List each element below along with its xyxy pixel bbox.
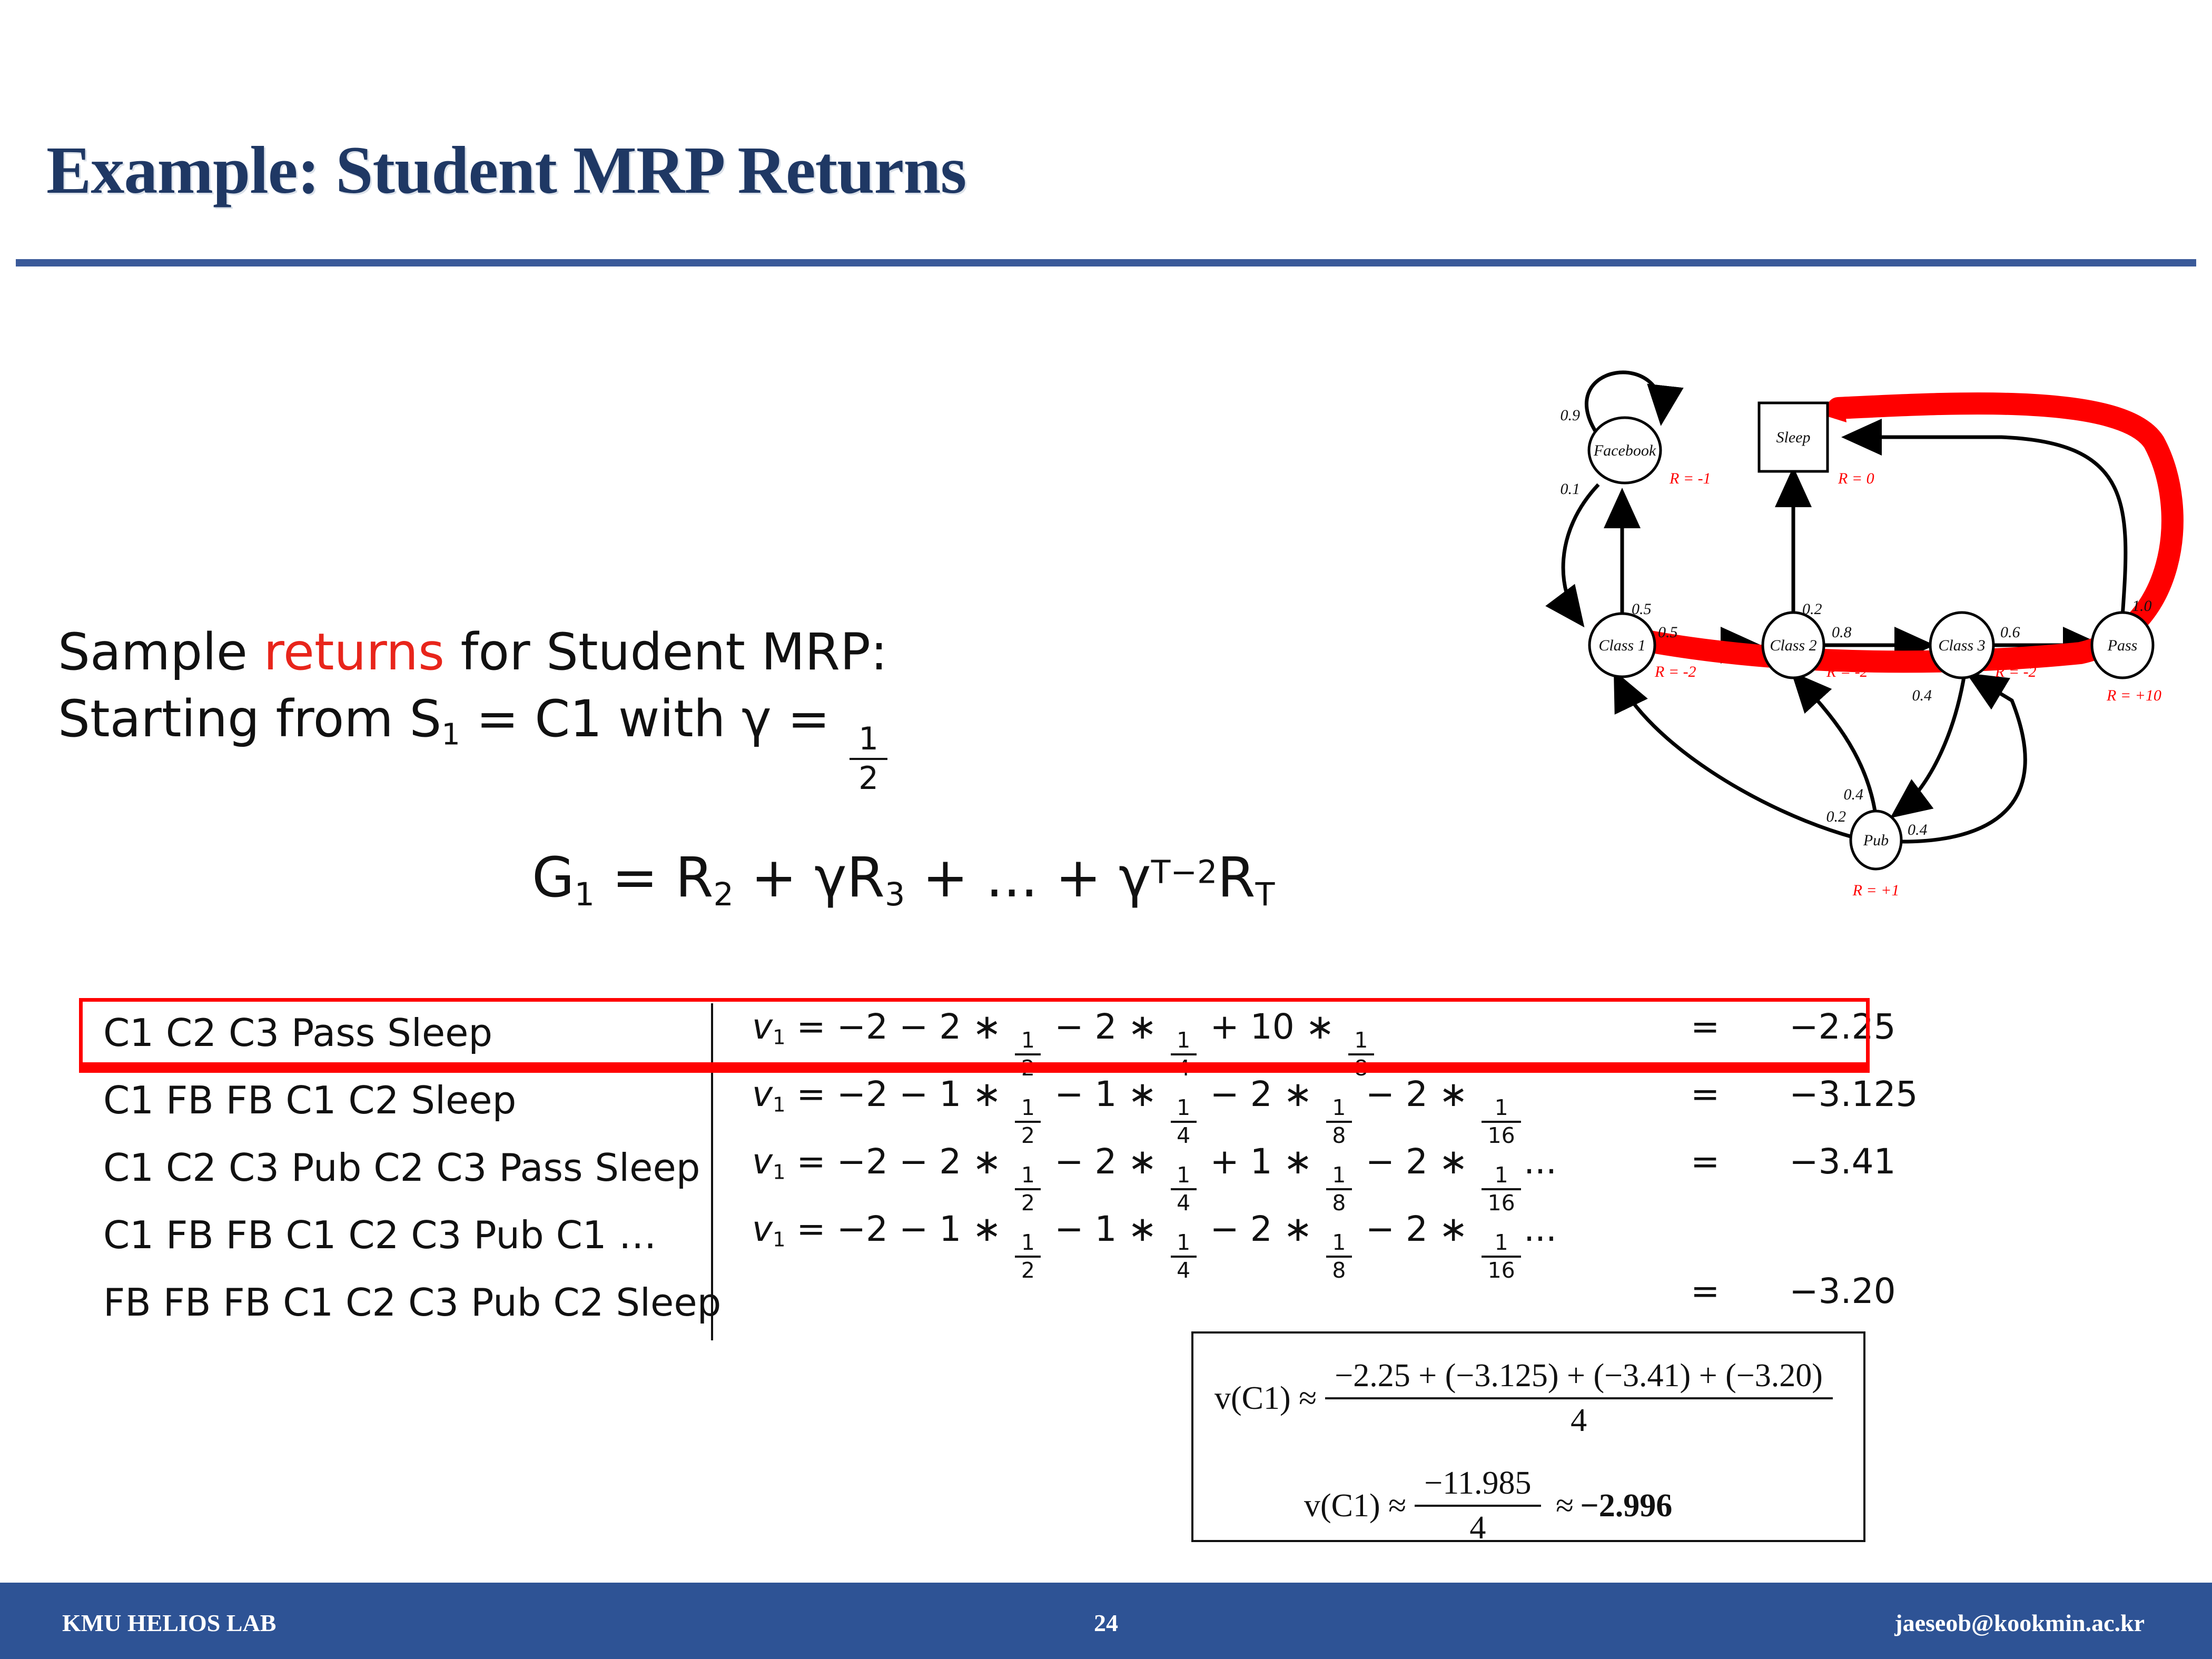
summary-line1-denominator: 4 — [1561, 1403, 1597, 1439]
summary-line1-lhs: v(C1) ≈ — [1214, 1380, 1317, 1417]
title-underline-rule — [16, 259, 2196, 266]
summary-final-value: −2.996 — [1580, 1487, 1672, 1525]
intro-line2-mid: = C1 with γ = — [460, 689, 846, 748]
summary-line2-lhs: v(C1) ≈ — [1304, 1487, 1406, 1525]
formula-r3-sub: 3 — [885, 876, 905, 913]
prob-pub-class2: 0.4 — [1844, 786, 1864, 803]
term-coefficient: − 1 ∗ — [1043, 1209, 1168, 1249]
term-coefficient: − 1 ∗ — [1043, 1074, 1168, 1114]
formula-tail-sub: T — [1256, 876, 1275, 913]
term-coefficient: − 2 ∗ — [1355, 1141, 1479, 1182]
intro-line2-prefix: Starting from S — [58, 689, 441, 748]
term-coefficient: − 2 ∗ — [1355, 1074, 1479, 1114]
table-row: C1 C2 C3 Pub C2 C3 Pass Sleepv1 = −2 − 2… — [84, 1138, 1864, 1206]
ellipsis: ... — [1524, 1209, 1557, 1249]
reward-class2: R = -2 — [1826, 663, 1868, 680]
summary-line2-denominator: 4 — [1460, 1510, 1496, 1546]
equals-sign: = — [785, 1141, 836, 1182]
prob-class1-facebook: 0.5 — [1632, 600, 1652, 618]
term-coefficient: − 2 ∗ — [1043, 1006, 1168, 1047]
node-class3-label: Class 3 — [1938, 637, 1985, 654]
formula-lhs: G — [532, 845, 575, 910]
prob-class1-class2: 0.5 — [1658, 624, 1678, 641]
summary-line2-numerator: −11.985 — [1415, 1465, 1541, 1502]
node-class1-label: Class 1 — [1598, 637, 1645, 654]
return-result: = −3.125 — [1569, 1071, 1864, 1114]
equals-sign: = — [785, 1074, 836, 1114]
v-symbol: v — [752, 1209, 773, 1249]
return-equation: v1 = −2 − 1 ∗ 12 − 1 ∗ 14 − 2 ∗ 18 − 2 ∗… — [713, 1206, 1569, 1281]
fraction-bar — [850, 758, 887, 760]
return-equation: v1 = −2 − 1 ∗ 12 − 1 ∗ 14 − 2 ∗ 18 − 2 ∗… — [713, 1071, 1569, 1147]
table-row: C1 FB FB C1 C2 Sleepv1 = −2 − 1 ∗ 12 − 1… — [84, 1071, 1864, 1138]
column-divider — [711, 1273, 713, 1340]
prob-pass-sleep: 1.0 — [2132, 597, 2152, 615]
returns-keyword: returns — [263, 623, 445, 682]
page-title: Example: Student MRP Returns — [46, 132, 966, 209]
term-coefficient: + 10 ∗ — [1199, 1006, 1346, 1047]
summary-line-1: v(C1) ≈ −2.25 + (−3.125) + (−3.41) + (−3… — [1214, 1358, 1841, 1439]
episode-sequence: C1 C2 C3 Pass Sleep — [84, 1003, 711, 1055]
gamma-denominator: 2 — [850, 763, 887, 795]
fraction-numerator: 1 — [1326, 1164, 1352, 1186]
table-row: C1 FB FB C1 C2 C3 Pub C1 …v1 = −2 − 1 ∗ … — [84, 1206, 1864, 1273]
v-subscript: 1 — [773, 1093, 785, 1117]
reward-sleep: R = 0 — [1838, 470, 1874, 487]
node-class2-label: Class 2 — [1770, 637, 1816, 654]
reward-pub: R = +1 — [1852, 882, 1900, 899]
episode-sequence: C1 C2 C3 Pub C2 C3 Pass Sleep — [84, 1138, 711, 1190]
fraction-bar — [1325, 1397, 1833, 1399]
state-subscript: 1 — [441, 717, 460, 752]
return-equation: v1 = −2 − 2 ∗ 12 − 2 ∗ 14 + 1 ∗ 18 − 2 ∗… — [713, 1138, 1569, 1214]
highlight-path-overlay — [1604, 403, 2172, 661]
result-value: = −3.125 — [1691, 1074, 1918, 1114]
equals-sign: = — [785, 1209, 836, 1249]
node-pass-label: Pass — [2107, 637, 2138, 654]
term-coefficient: − 2 ∗ — [1199, 1209, 1324, 1249]
term-coefficient: − 2 ∗ — [1355, 1209, 1479, 1249]
formula-middle: + ... + γ — [905, 845, 1151, 910]
result-value: = −2.25 — [1691, 1006, 1896, 1047]
episode-sequence: FB FB FB C1 C2 C3 Pub C2 Sleep — [84, 1273, 711, 1325]
result-value: = −3.41 — [1691, 1141, 1896, 1182]
formula-eq: = R — [595, 845, 714, 910]
term-coefficient: −2 − 1 ∗ — [837, 1074, 1013, 1114]
summary-line1-numerator: −2.25 + (−3.125) + (−3.41) + (−3.20) — [1325, 1358, 1833, 1394]
prob-pub-class1: 0.2 — [1826, 808, 1846, 825]
intro-line1-suffix: for Student MRP: — [445, 623, 887, 682]
return-result: = −3.41 — [1569, 1138, 1864, 1182]
prob-class2-sleep: 0.2 — [1802, 600, 1822, 618]
term-coefficient: + 1 ∗ — [1199, 1141, 1324, 1182]
reward-pass: R = +10 — [2106, 687, 2161, 704]
fraction-numerator: 1 — [1488, 1164, 1514, 1186]
edge-facebook-class1 — [1563, 485, 1598, 621]
fraction-numerator: 1 — [1326, 1097, 1352, 1119]
fraction-numerator: 1 — [1171, 1164, 1197, 1186]
summary-approx-sign: ≈ — [1556, 1487, 1574, 1525]
fraction-numerator: 1 — [1171, 1097, 1197, 1119]
node-facebook-label: Facebook — [1593, 442, 1656, 459]
fraction-numerator: 1 — [1171, 1030, 1197, 1051]
v-symbol: v — [752, 1141, 773, 1182]
gamma-fraction: 12 — [850, 724, 887, 795]
footer-page-number: 24 — [0, 1609, 2212, 1637]
fraction-numerator: 1 — [1326, 1232, 1352, 1253]
reward-facebook: R = -1 — [1669, 470, 1711, 487]
prob-facebook-self: 0.9 — [1561, 407, 1581, 424]
intro-line-1: Sample returns for Student MRP: — [58, 619, 1111, 686]
term-coefficient: − 2 ∗ — [1199, 1074, 1324, 1114]
return-result — [1569, 1273, 1864, 1276]
return-result: = −2.25 — [1569, 1003, 1864, 1047]
formula-tail: R — [1217, 845, 1255, 910]
return-formula: G1 = R2 + γR3 + ... + γT−2RT — [532, 845, 1275, 913]
edge-pass-sleep — [1849, 437, 2126, 616]
episode-sequence: C1 FB FB C1 C2 C3 Pub C1 … — [84, 1206, 711, 1257]
footer-email: jaeseob@kookmin.ac.kr — [1894, 1609, 2145, 1637]
fraction-numerator: 1 — [1015, 1232, 1041, 1253]
fraction-numerator: 1 — [1488, 1097, 1514, 1119]
fraction-numerator: 1 — [1488, 1232, 1514, 1253]
ellipsis: ... — [1524, 1141, 1557, 1182]
prob-class2-class3: 0.8 — [1832, 624, 1852, 641]
value-estimate-box: v(C1) ≈ −2.25 + (−3.125) + (−3.41) + (−3… — [1191, 1331, 1865, 1542]
fraction-numerator: 1 — [1015, 1030, 1041, 1051]
reward-class1: R = -2 — [1654, 663, 1696, 680]
summary-line1-fraction: −2.25 + (−3.125) + (−3.41) + (−3.20) 4 — [1325, 1358, 1833, 1439]
fraction-numerator: 1 — [1015, 1164, 1041, 1186]
episode-sequence: C1 FB FB C1 C2 Sleep — [84, 1071, 711, 1122]
formula-lhs-sub: 1 — [575, 876, 595, 913]
slide-canvas: Example: Student MRP Returns Sample retu… — [0, 0, 2212, 1659]
intro-line1-prefix: Sample — [58, 623, 263, 682]
summary-line-2: v(C1) ≈ −11.985 4 ≈ −2.996 — [1304, 1465, 1672, 1547]
return-equation — [713, 1273, 1569, 1276]
fraction-numerator: 1 — [1171, 1232, 1197, 1253]
node-sleep-label: Sleep — [1776, 429, 1811, 446]
term-coefficient: −2 − 1 ∗ — [837, 1209, 1013, 1249]
v-symbol: v — [752, 1006, 773, 1047]
table-row: FB FB FB C1 C2 C3 Pub C2 Sleep — [84, 1273, 1864, 1340]
prob-pub-class3: 0.4 — [1908, 821, 1928, 838]
intro-line-2: Starting from S1 = C1 with γ = 12 — [58, 686, 1111, 795]
return-result: = −3.20 — [1569, 1206, 1864, 1249]
term-coefficient: −2 − 2 ∗ — [837, 1006, 1013, 1047]
formula-gamma-exponent: T−2 — [1151, 854, 1218, 891]
term-coefficient: −2 − 2 ∗ — [837, 1141, 1013, 1182]
v-symbol: v — [752, 1074, 773, 1114]
reward-class3: R = -2 — [1994, 663, 2037, 680]
formula-r2-sub: 2 — [714, 876, 734, 913]
v-subscript: 1 — [773, 1228, 785, 1252]
return-equation: v1 = −2 − 2 ∗ 12 − 2 ∗ 14 + 10 ∗ 18 — [713, 1003, 1569, 1079]
formula-plus-gamma-r3: + γR — [734, 845, 885, 910]
equals-sign: = — [785, 1006, 836, 1047]
prob-class3-pass: 0.6 — [2000, 624, 2020, 641]
prob-class3-pub: 0.4 — [1912, 687, 1932, 704]
gamma-numerator: 1 — [850, 724, 887, 755]
slide-footer: KMU HELIOS LAB 24 jaeseob@kookmin.ac.kr — [0, 1583, 2212, 1659]
fraction-numerator: 1 — [1015, 1097, 1041, 1119]
intro-text-block: Sample returns for Student MRP: Starting… — [58, 619, 1111, 795]
v-subscript: 1 — [773, 1026, 785, 1050]
returns-table: C1 C2 C3 Pass Sleepv1 = −2 − 2 ∗ 12 − 2 … — [84, 1003, 1864, 1340]
node-pub-label: Pub — [1863, 832, 1889, 849]
prob-facebook-class1: 0.1 — [1561, 480, 1581, 498]
summary-line2-fraction: −11.985 4 — [1415, 1465, 1541, 1547]
mrp-state-diagram: Facebook R = -1 0.9 0.1 Sleep R = 0 Clas… — [1422, 284, 2207, 959]
v-subscript: 1 — [773, 1161, 785, 1184]
table-row: C1 C2 C3 Pass Sleepv1 = −2 − 2 ∗ 12 − 2 … — [84, 1003, 1864, 1071]
fraction-numerator: 1 — [1348, 1030, 1374, 1051]
fraction-bar — [1415, 1505, 1541, 1507]
term-coefficient: − 2 ∗ — [1043, 1141, 1168, 1182]
